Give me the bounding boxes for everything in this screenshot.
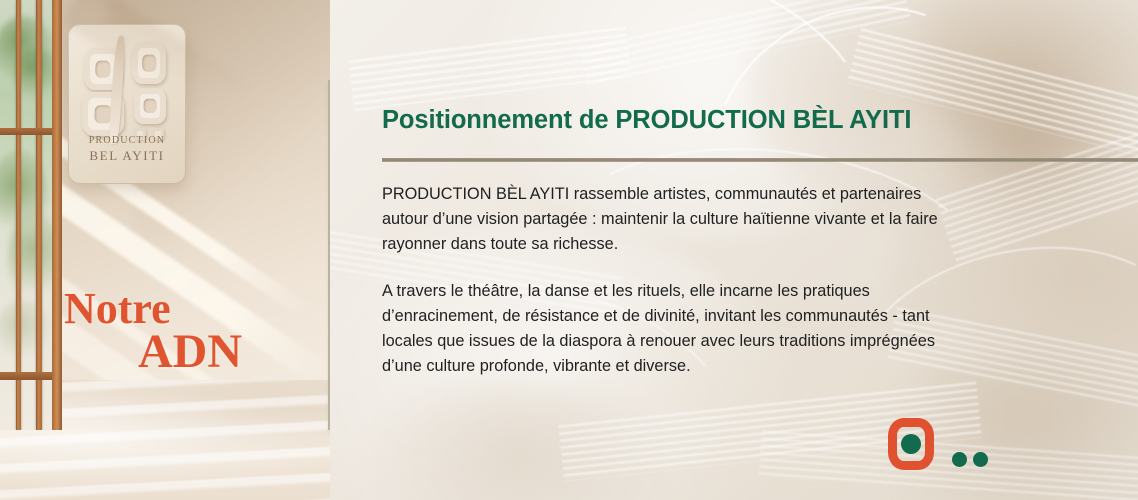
brand-mark-dot — [973, 452, 988, 467]
content-panel: Positionnement de PRODUCTION BÈL AYITI P… — [330, 0, 1138, 500]
page-title: Positionnement de PRODUCTION BÈL AYITI — [382, 106, 911, 135]
title-underline-rule — [382, 158, 1138, 162]
brand-mark-core-dot — [901, 434, 921, 454]
plaque-wordmark: PRODUCTION BEL AYITI — [68, 135, 186, 164]
background-blotch — [370, 380, 670, 500]
wall-plaque: PRODUCTION BEL AYITI — [68, 24, 186, 184]
logo-glyph-shape — [134, 88, 166, 124]
background-stroke-bundle — [579, 0, 911, 90]
body-paragraph: PRODUCTION BÈL AYITI rassemble artistes,… — [382, 182, 942, 257]
plaque-wordmark-line2: BEL AYITI — [68, 148, 186, 164]
section-headline-line2: ADN — [58, 329, 288, 374]
window-mullion-vertical — [36, 0, 42, 430]
background-blotch — [918, 0, 1138, 160]
window — [0, 0, 62, 430]
background-blotch — [928, 60, 1128, 230]
section-headline: Notre ADN — [58, 288, 288, 374]
body-paragraph: A travers le théâtre, la danse et les ri… — [382, 279, 942, 379]
slide-root: PRODUCTION BEL AYITI Notre ADN — [0, 0, 1138, 500]
background-stroke-bundle — [935, 128, 1138, 263]
interior-photo-panel: PRODUCTION BEL AYITI Notre ADN — [0, 0, 330, 500]
body-copy: PRODUCTION BÈL AYITI rassemble artistes,… — [382, 182, 942, 379]
brand-mark-icon — [888, 418, 998, 474]
plaque-wordmark-line1: PRODUCTION — [68, 135, 186, 148]
brand-mark-dot — [952, 452, 967, 467]
background-stroke-bundle — [847, 25, 1138, 156]
section-headline-line1: Notre — [58, 288, 288, 329]
window-mullion-vertical — [16, 0, 21, 430]
background-stroke-bundle — [348, 23, 632, 111]
